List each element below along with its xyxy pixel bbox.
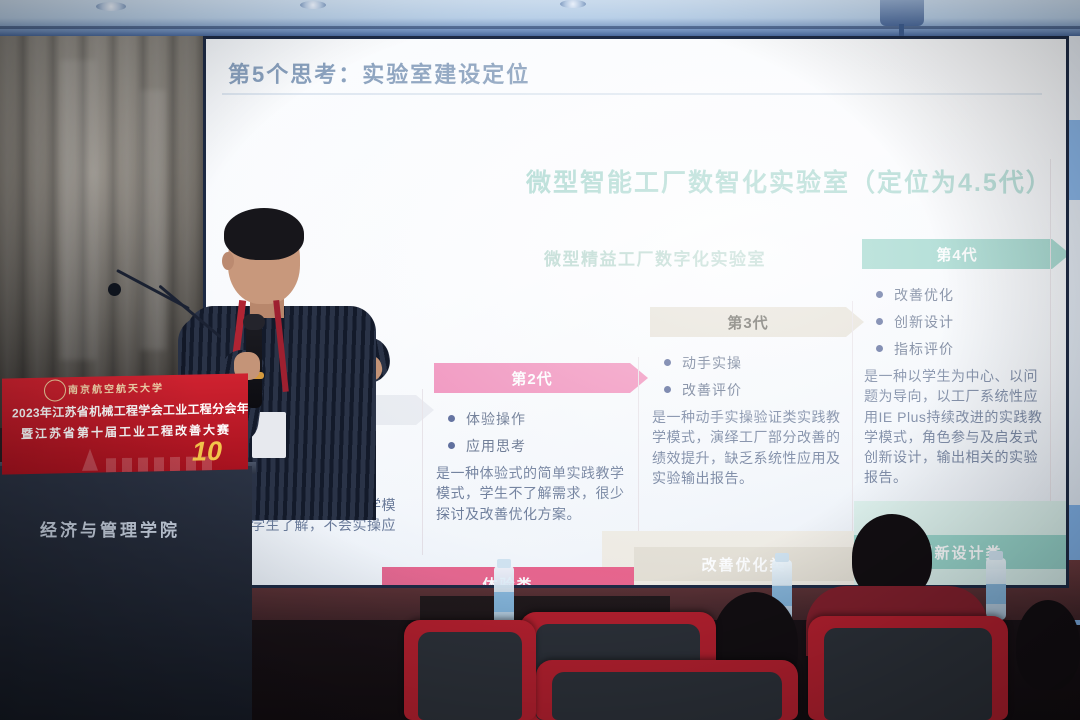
slide-title: 第5个思考：实验室建设定位 (228, 57, 530, 89)
generation-bullets-2: 体验操作 应用思考 (444, 409, 630, 456)
generation-column-2: 第2代 体验操作 应用思考 是一种体验式的简单实践教学模式，学生不了解需求，很少… (434, 363, 630, 524)
ceiling-light (560, 0, 586, 8)
generation-column-3: 第3代 动手实操 改善评价 是一种动手实操验证类实践教学模式，演绎工厂部分改善的… (650, 307, 846, 488)
generation-bullets-3: 动手实操 改善评价 (660, 353, 846, 400)
anniversary-badge: 10 (192, 436, 232, 469)
presentation-photo: 第5个思考：实验室建设定位 微型智能工厂数智化实验室（定位为4.5代） 微型精益… (0, 0, 1080, 720)
generation-desc-3: 是一种动手实操验证类实践教学模式，演绎工厂部分改善的绩效提升，缺乏系统性应用及实… (652, 407, 846, 488)
generation-banner-2: 第2代 (434, 363, 630, 393)
curtain-fold (60, 60, 96, 360)
ceiling-light (300, 1, 326, 9)
bullet-item: 创新设计 (872, 312, 1052, 332)
speaker-ear (222, 252, 234, 270)
audience-head (1016, 600, 1080, 690)
column-divider (422, 389, 423, 555)
column-divider (1050, 159, 1051, 555)
bottle-cap (989, 551, 1003, 560)
bullet-item: 改善评价 (660, 380, 846, 400)
projector (880, 0, 924, 26)
bullet-item: 体验操作 (444, 409, 630, 429)
event-banner: 南京航空航天大学 2023年江苏省机械工程学会工业工程分会年会 暨江苏省第十届工… (2, 373, 248, 474)
university-name: 南京航空航天大学 (68, 379, 164, 396)
microphone-head (243, 314, 265, 330)
category-band-2: 改善优化类 (634, 547, 854, 581)
bullet-item: 动手实操 (660, 353, 846, 373)
bullet-item: 指标评价 (872, 339, 1052, 359)
bottle-label (986, 584, 1006, 604)
bullet-item: 改善优化 (872, 285, 1052, 305)
slide-subline: 微型精益工厂数字化实验室 (544, 245, 766, 270)
university-seal-icon (44, 379, 66, 401)
speaker-hair (224, 208, 304, 260)
column-divider (638, 357, 639, 555)
generation-banner-3: 第3代 (650, 307, 846, 337)
generation-desc-4: 是一种以学生为中心、以问题为导向，以工厂系统性应用IE Plus持续改进的实践教… (864, 366, 1052, 488)
chair-cushion (824, 628, 992, 720)
skyline-tower-icon (82, 449, 98, 471)
slide-headline: 微型智能工厂数智化实验室（定位为4.5代） (526, 163, 1053, 199)
generation-banner-4: 第4代 (862, 239, 1052, 269)
ceiling-seam (0, 26, 1080, 29)
podium (0, 466, 252, 720)
bottle-label (494, 592, 514, 612)
bullet-item: 应用思考 (444, 436, 630, 456)
podium-microphone-head (108, 283, 121, 296)
column-divider (852, 301, 853, 555)
podium-label: 经济与管理学院 (40, 516, 230, 541)
chair-cushion (418, 632, 522, 720)
bottle-cap (497, 559, 511, 568)
curtain-fold (140, 90, 166, 350)
generation-desc-2: 是一种体验式的简单实践教学模式，学生不了解需求，很少探讨及改善优化方案。 (436, 463, 630, 524)
title-divider (222, 93, 1042, 95)
bottle-cap (775, 553, 789, 562)
ceiling-light (96, 2, 126, 11)
event-title-line1: 2023年江苏省机械工程学会工业工程分会年会 (12, 400, 240, 422)
generation-column-4: 第4代 改善优化 创新设计 指标评价 是一种以学生为中心、以问题为导向，以工厂系… (862, 239, 1052, 488)
chair-cushion (552, 672, 782, 720)
generation-bullets-4: 改善优化 创新设计 指标评价 (872, 285, 1052, 359)
